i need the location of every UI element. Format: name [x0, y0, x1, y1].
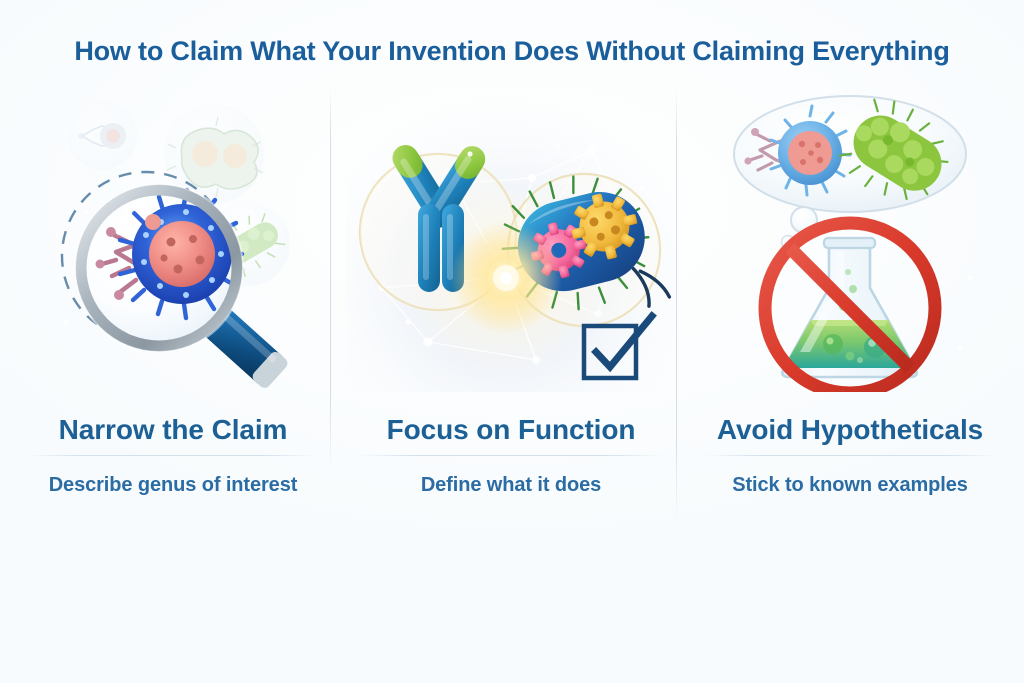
column-divider-1 — [330, 88, 331, 473]
column-heading: Avoid Hypotheticals — [692, 414, 1008, 446]
column-subtitle: Define what it does — [346, 474, 676, 497]
faded-microbe-bubble-icon — [67, 100, 137, 170]
infographic-canvas: How to Claim What Your Invention Does Wi… — [0, 0, 1024, 683]
column-subtitle: Stick to known examples — [692, 474, 1008, 497]
heading-rule — [358, 455, 664, 456]
illustration-thought-bubble-prohibited-flask — [692, 92, 1008, 392]
column-heading: Narrow the Claim — [16, 414, 330, 446]
illustration-antibody-bacterium-network — [346, 92, 676, 392]
column-divider-2 — [676, 88, 677, 522]
page-title: How to Claim What Your Invention Does Wi… — [0, 36, 1024, 67]
illustration-magnifier-virus — [16, 92, 330, 392]
column-heading: Focus on Function — [346, 414, 676, 446]
heading-rule — [28, 455, 318, 456]
glow-burst-icon — [450, 222, 562, 334]
column-narrow-the-claim: Narrow the Claim Describe genus of inter… — [16, 92, 330, 512]
column-subtitle: Describe genus of interest — [16, 474, 330, 497]
column-focus-on-function: Focus on Function Define what it does — [346, 92, 676, 512]
column-avoid-hypotheticals: Avoid Hypotheticals Stick to known examp… — [692, 92, 1008, 512]
heading-rule — [704, 455, 996, 456]
